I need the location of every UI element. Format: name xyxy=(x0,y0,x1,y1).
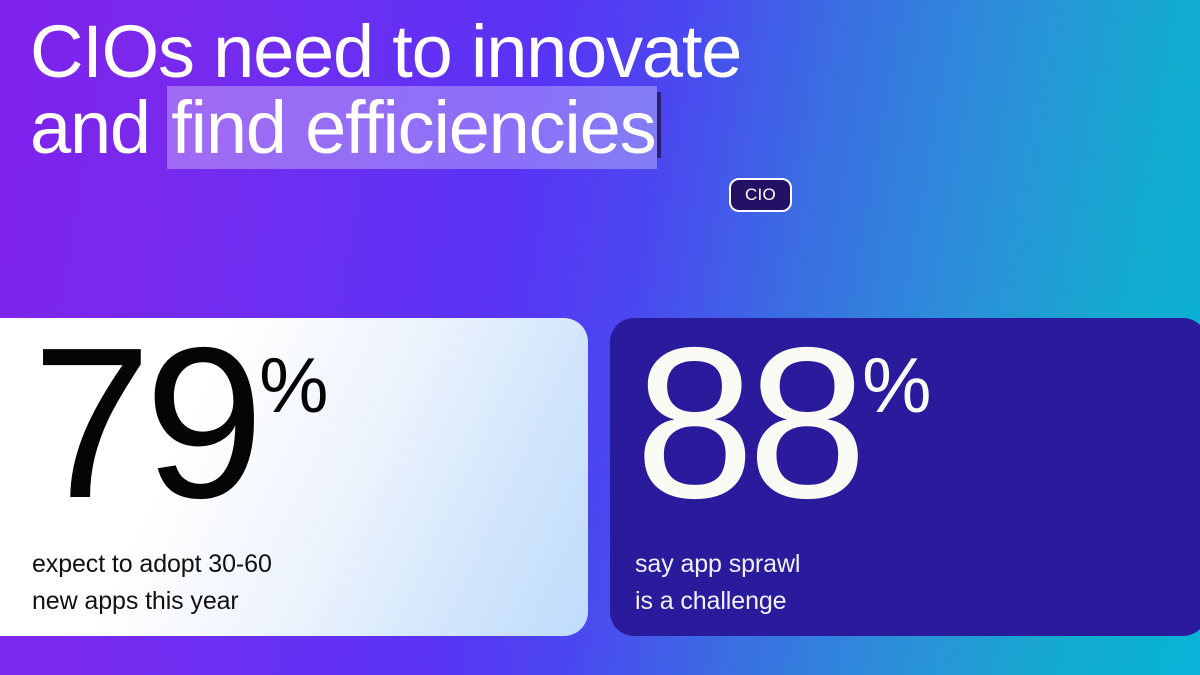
stat-caption-adoption: expect to adopt 30-60 new apps this year xyxy=(32,546,588,620)
headline-line-2: and find efficiencies xyxy=(30,90,890,166)
text-caret-icon xyxy=(657,92,661,158)
stat-card-group: 79 % expect to adopt 30-60 new apps this… xyxy=(0,318,1200,636)
stat-number-adoption: 79 xyxy=(32,334,257,512)
stat-percent-sign-sprawl: % xyxy=(862,346,930,424)
collaborator-cursor-label: CIO xyxy=(745,185,776,205)
stat-value-sprawl: 88 % xyxy=(635,334,1200,512)
stat-card-adoption[interactable]: 79 % expect to adopt 30-60 new apps this… xyxy=(0,318,588,636)
headline-line-1: CIOs need to innovate xyxy=(30,14,890,90)
collaborator-cursor-badge[interactable]: CIO xyxy=(729,178,792,212)
stat-percent-sign-adoption: % xyxy=(259,346,327,424)
stat-card-sprawl-content: 88 % say app sprawl is a challenge xyxy=(610,318,1200,636)
stat-value-adoption: 79 % xyxy=(32,334,588,512)
stat-number-sprawl: 88 xyxy=(635,334,860,512)
stat-card-sprawl[interactable]: 88 % say app sprawl is a challenge xyxy=(610,318,1200,636)
headline-line-2-prefix: and xyxy=(30,86,169,169)
headline-selected-text[interactable]: find efficiencies xyxy=(167,86,657,169)
stat-caption-sprawl: say app sprawl is a challenge xyxy=(635,546,1200,620)
headline-selected-label: find efficiencies xyxy=(171,86,655,169)
stat-card-adoption-content: 79 % expect to adopt 30-60 new apps this… xyxy=(0,318,588,636)
page-title: CIOs need to innovate and find efficienc… xyxy=(30,14,890,166)
slide-canvas: CIOs need to innovate and find efficienc… xyxy=(0,0,1200,675)
